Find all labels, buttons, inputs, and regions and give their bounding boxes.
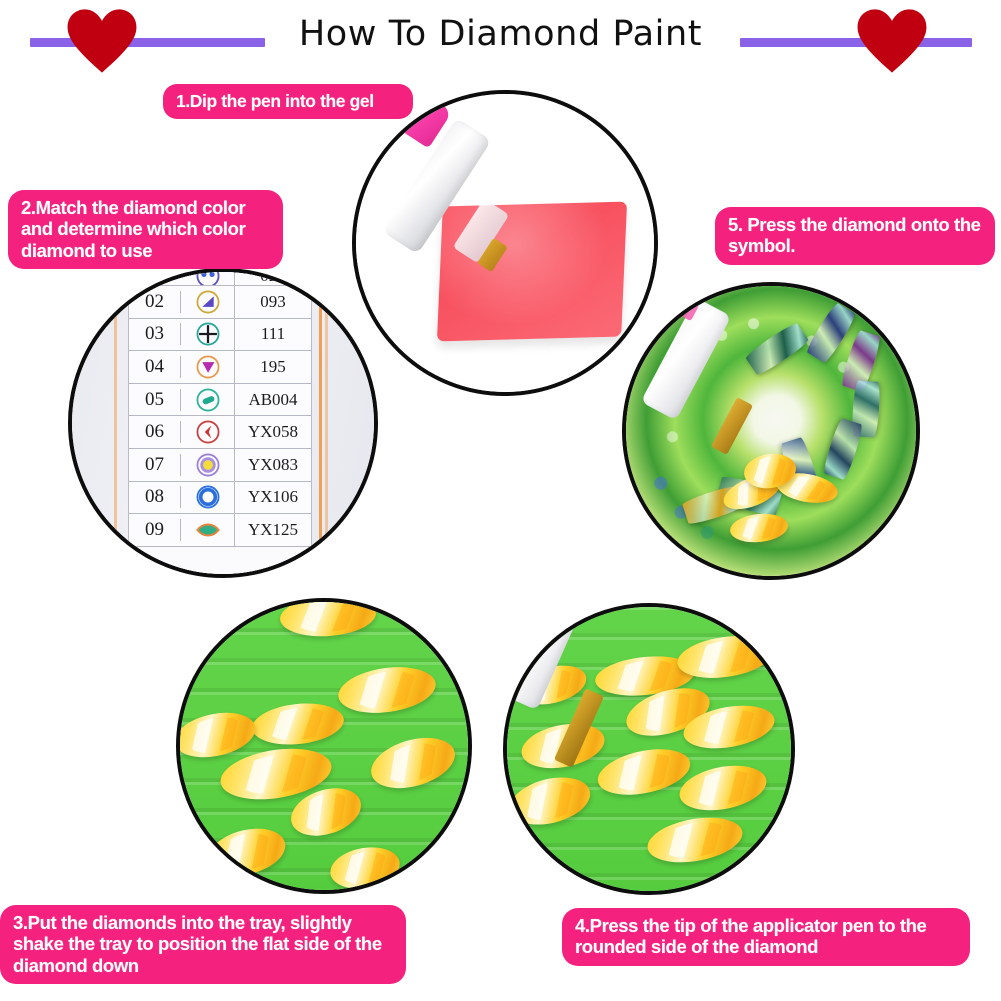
page-title: How To Diamond Paint (0, 14, 1001, 54)
photo-color-chart: 02802093031110419505AB00406YX05807YX0830… (68, 268, 378, 578)
infographic-page: How To Diamond Paint 1.Dip the pen into … (0, 0, 1001, 1001)
color-chart-code: YX083 (235, 455, 311, 475)
chart-orange-stripe (325, 272, 328, 574)
color-chart-code: 111 (235, 324, 311, 344)
color-chart-row: 07YX083 (129, 449, 311, 482)
color-chart-number: 09 (129, 519, 181, 541)
color-chart-row: 03111 (129, 319, 311, 352)
color-chart-number: 07 (129, 454, 181, 476)
photo-diamonds-in-tray (176, 598, 472, 894)
leaf-circle-icon (181, 514, 235, 546)
color-chart-code: 093 (235, 292, 311, 312)
color-chart-row: 08YX106 (129, 482, 311, 515)
color-chart-code: YX058 (235, 422, 311, 442)
ring-circle-icon (181, 482, 235, 514)
triangle-circle-icon (181, 286, 235, 318)
step-2-label: 2.Match the diamond color and determine … (8, 190, 283, 269)
color-chart-row: 09YX125 (129, 514, 311, 547)
double-dot-circle-icon (181, 268, 235, 285)
color-chart-code: 028 (235, 268, 311, 286)
photo-placing-diamond-on-canvas (622, 282, 920, 580)
color-chart-number: 05 (129, 389, 181, 411)
color-chart-number: 08 (129, 486, 181, 508)
step-5-label: 5. Press the diamond onto the symbol. (715, 207, 995, 265)
plus-circle-icon (181, 319, 235, 351)
color-chart-row: 05AB004 (129, 384, 311, 417)
color-chart-number: 02 (129, 291, 181, 313)
color-chart-row: 02093 (129, 286, 311, 319)
color-chart-code: 195 (235, 357, 311, 377)
chart-orange-stripe (319, 272, 322, 574)
color-chart-code: YX125 (235, 520, 311, 540)
color-chart-row: 06YX058 (129, 416, 311, 449)
gel-pad (437, 202, 627, 342)
photo-pen-dipping-gel (352, 90, 658, 396)
color-chart-code: AB004 (235, 390, 311, 410)
dot-filled-circle-icon (181, 449, 235, 481)
color-chart-code: YX106 (235, 487, 311, 507)
color-chart-number: 06 (129, 421, 181, 443)
color-chart-table: 02802093031110419505AB00406YX05807YX0830… (128, 268, 312, 578)
color-chart-row: 04195 (129, 351, 311, 384)
chevron-left-circle-icon (181, 416, 235, 448)
color-chart-number: 03 (129, 323, 181, 345)
step-4-label: 4.Press the tip of the applicator pen to… (562, 908, 970, 966)
chart-orange-stripe (114, 272, 117, 574)
header: How To Diamond Paint (0, 0, 1001, 82)
step-3-label: 3.Put the diamonds into the tray, slight… (0, 905, 406, 984)
photo-pen-picking-diamond (503, 603, 795, 895)
color-chart-row: 028 (129, 268, 311, 286)
step-1-label: 1.Dip the pen into the gel (163, 84, 413, 119)
capsule-circle-icon (181, 384, 235, 416)
wedge-circle-icon (181, 351, 235, 383)
color-chart-number: 04 (129, 356, 181, 378)
